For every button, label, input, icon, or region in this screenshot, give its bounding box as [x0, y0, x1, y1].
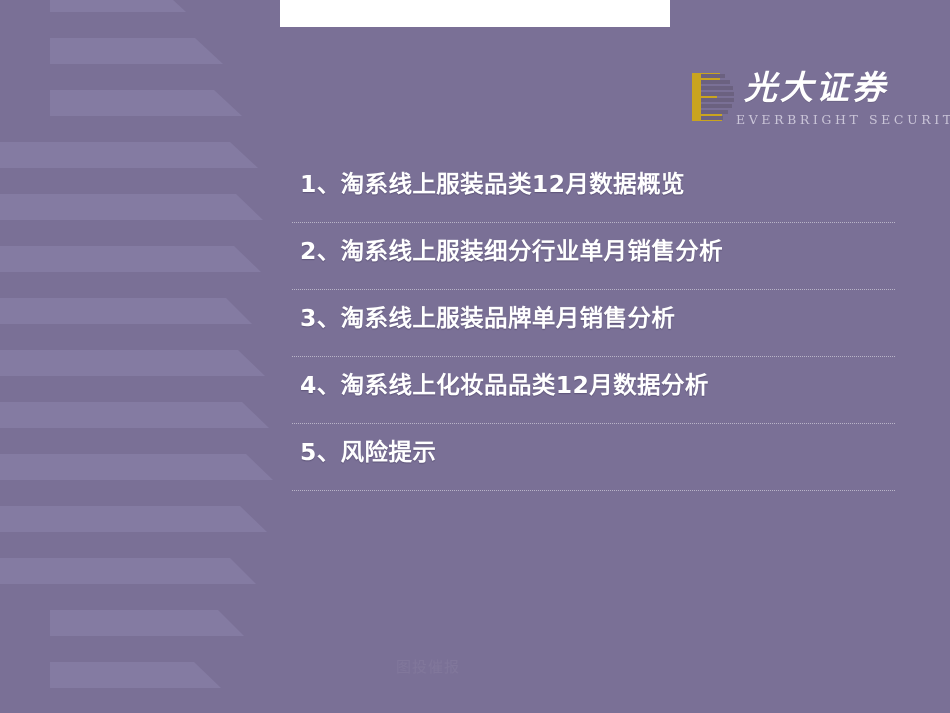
agenda-item-label: 5、风险提示	[300, 424, 436, 480]
brand-logo-chinese-name: 光大证券	[744, 66, 894, 110]
brand-logo-english-name: EVERBRIGHT SECURITIES	[736, 112, 950, 127]
everbright-e-icon	[690, 71, 742, 123]
agenda-item-3[interactable]: 3、淘系线上服装品牌单月销售分析	[292, 290, 895, 357]
agenda-item-1[interactable]: 1、淘系线上服装品类12月数据概览	[292, 156, 895, 223]
page-watermark: 图投催报	[396, 656, 460, 677]
agenda-item-label: 2、淘系线上服装细分行业单月销售分析	[300, 223, 723, 279]
agenda-item-5[interactable]: 5、风险提示	[292, 424, 895, 491]
top-white-banner	[280, 0, 670, 27]
agenda-item-label: 3、淘系线上服装品牌单月销售分析	[300, 290, 675, 346]
agenda-item-label: 1、淘系线上服装品类12月数据概览	[300, 156, 685, 212]
brand-logo: 光大证券 EVERBRIGHT SECURITIES	[690, 66, 895, 134]
agenda-list: 1、淘系线上服装品类12月数据概览 2、淘系线上服装细分行业单月销售分析 3、淘…	[292, 156, 895, 491]
everbright-e-watermark-icon	[0, 0, 290, 713]
agenda-item-label: 4、淘系线上化妆品品类12月数据分析	[300, 357, 709, 413]
agenda-item-2[interactable]: 2、淘系线上服装细分行业单月销售分析	[292, 223, 895, 290]
agenda-item-4[interactable]: 4、淘系线上化妆品品类12月数据分析	[292, 357, 895, 424]
slide-root: 光大证券 EVERBRIGHT SECURITIES 1、淘系线上服装品类12月…	[0, 0, 950, 713]
